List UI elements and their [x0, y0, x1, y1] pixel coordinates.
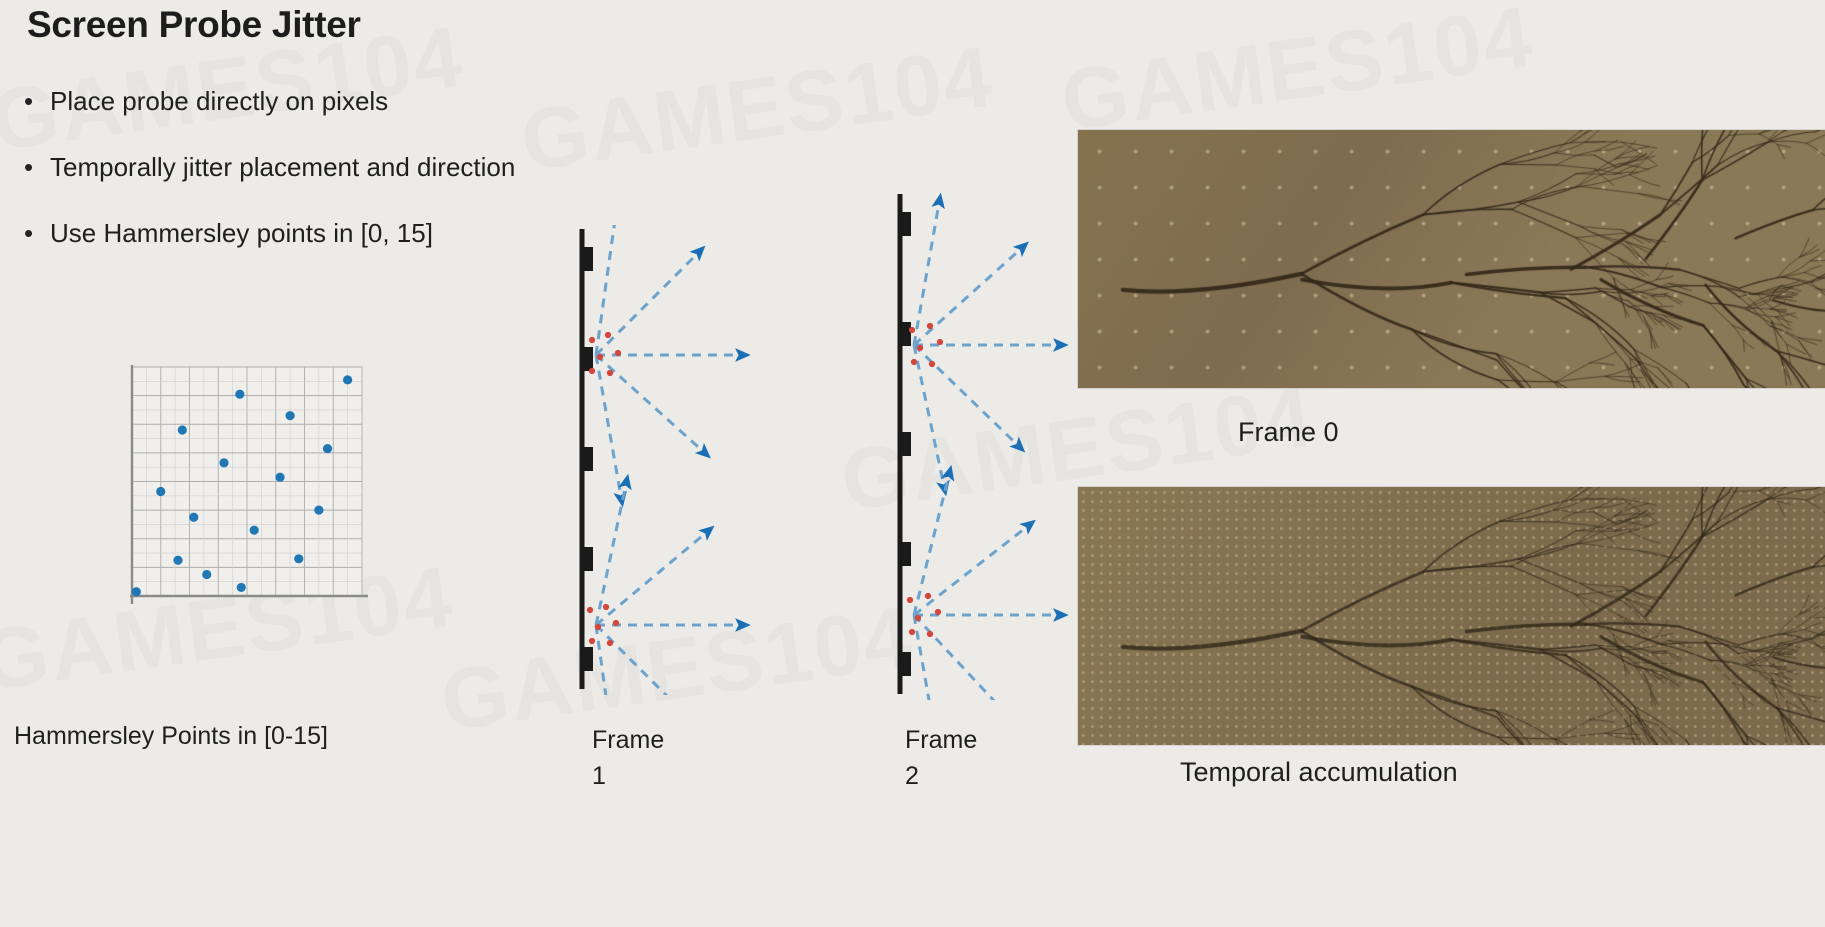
- pixel-tick: [900, 322, 911, 346]
- bullet-marker-icon: •: [24, 152, 50, 182]
- scatter-point: [237, 583, 246, 592]
- probe-dot: [909, 629, 915, 635]
- scatter-point: [156, 487, 165, 496]
- frame-2-caption-line1: Frame: [905, 722, 977, 758]
- probe-dot: [907, 597, 913, 603]
- probe-ray: [596, 355, 707, 455]
- pixel-tick: [582, 647, 593, 671]
- bullet-label: Use Hammersley points in [0, 15]: [50, 218, 433, 248]
- probe-dot: [603, 604, 609, 610]
- probe-ray: [596, 355, 622, 503]
- probe-ray: [914, 345, 1022, 449]
- probe-dot: [607, 370, 613, 376]
- scatter-point: [189, 513, 198, 522]
- probe-dot: [589, 638, 595, 644]
- probe-dot: [589, 337, 595, 343]
- frame-2-caption-line2: 2: [905, 758, 977, 794]
- probe-dot: [915, 615, 921, 621]
- scatter-plot-svg: [118, 363, 368, 606]
- pixel-tick: [582, 347, 593, 371]
- probe-ray: [596, 625, 702, 695]
- temporal-accumulation-canvas: [1078, 487, 1825, 745]
- probe-dot: [927, 631, 933, 637]
- scatter-point: [178, 425, 187, 434]
- probe-dot: [607, 640, 613, 646]
- hammersley-scatter-chart: [118, 363, 368, 606]
- hammersley-caption: Hammersley Points in [0-15]: [14, 722, 328, 751]
- frame-0-render-image: [1078, 130, 1825, 388]
- frame-1-caption: Frame 1: [592, 722, 664, 794]
- probe-ray: [596, 249, 702, 355]
- scatter-point: [286, 411, 295, 420]
- list-item: • Use Hammersley points in [0, 15]: [24, 218, 644, 248]
- frame-1-diagram: [560, 225, 880, 695]
- scatter-point: [275, 473, 284, 482]
- probe-dot: [937, 339, 943, 345]
- probe-dot: [587, 607, 593, 613]
- bullet-marker-icon: •: [24, 86, 50, 116]
- probe-ray: [914, 523, 1032, 615]
- temporal-accumulation-render-image: [1078, 487, 1825, 745]
- bullet-label: Temporally jitter placement and directio…: [50, 152, 515, 182]
- pixel-tick: [582, 547, 593, 571]
- frame-1-svg: [560, 225, 880, 695]
- pixel-tick: [900, 542, 911, 566]
- probe-dot: [925, 593, 931, 599]
- pixel-tick: [582, 247, 593, 271]
- frame-1-caption-line1: Frame: [592, 722, 664, 758]
- scatter-point: [219, 458, 228, 467]
- frame-0-caption: Frame 0: [1238, 417, 1339, 448]
- scatter-point: [235, 390, 244, 399]
- pixel-tick: [900, 212, 911, 236]
- probe-dot: [595, 624, 601, 630]
- list-item: • Temporally jitter placement and direct…: [24, 152, 644, 182]
- probe-ray: [914, 615, 1016, 700]
- scatter-point: [343, 375, 352, 384]
- probe-dot: [605, 332, 611, 338]
- probe-ray: [914, 197, 940, 345]
- probe-ray: [596, 625, 617, 695]
- temporal-accumulation-caption: Temporal accumulation: [1180, 757, 1458, 788]
- page-title: Screen Probe Jitter: [27, 4, 361, 46]
- probe-dot: [929, 361, 935, 367]
- bullet-list: • Place probe directly on pixels • Tempo…: [24, 86, 644, 284]
- scatter-point: [202, 570, 211, 579]
- bullet-marker-icon: •: [24, 218, 50, 248]
- scatter-point: [250, 526, 259, 535]
- scatter-point: [314, 506, 323, 515]
- scatter-point: [132, 587, 141, 596]
- bullet-label: Place probe directly on pixels: [50, 86, 388, 116]
- scatter-point: [323, 444, 332, 453]
- frame-0-canvas: [1078, 130, 1825, 388]
- pixel-tick: [582, 447, 593, 471]
- probe-dot: [917, 345, 923, 351]
- frame-2-caption: Frame 2: [905, 722, 977, 794]
- pixel-tick: [900, 652, 911, 676]
- scatter-point: [173, 556, 182, 565]
- probe-dot: [911, 359, 917, 365]
- probe-ray: [914, 245, 1025, 345]
- probe-dot: [615, 350, 621, 356]
- probe-dot: [597, 354, 603, 360]
- probe-dot: [927, 323, 933, 329]
- pixel-tick: [900, 432, 911, 456]
- watermark-text: GAMES104: [1055, 0, 1539, 152]
- scatter-point: [294, 554, 303, 563]
- probe-dot: [935, 609, 941, 615]
- probe-dot: [613, 620, 619, 626]
- probe-dot: [589, 368, 595, 374]
- probe-ray: [914, 345, 945, 492]
- list-item: • Place probe directly on pixels: [24, 86, 644, 116]
- frame-1-caption-line2: 1: [592, 758, 664, 794]
- probe-dot: [909, 327, 915, 333]
